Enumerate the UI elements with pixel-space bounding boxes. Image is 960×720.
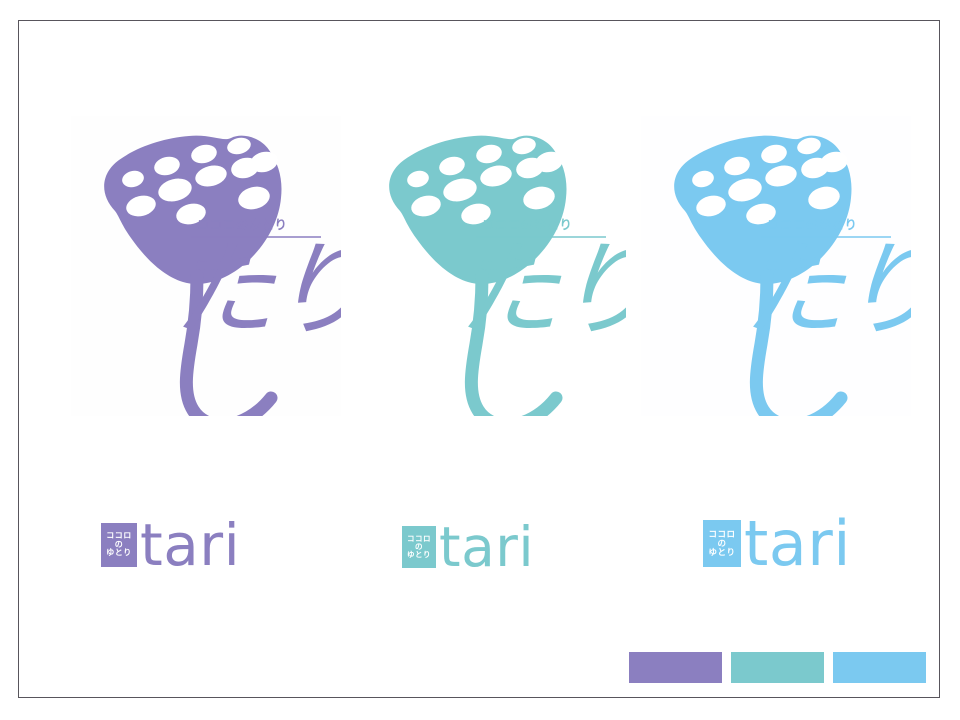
slide-canvas: ココロのゆとり たり: [18, 20, 940, 698]
wordmark-type: tari: [744, 507, 851, 580]
badge-line-3: ゆとり: [106, 549, 132, 557]
logo-calligraphy: たり: [456, 229, 626, 351]
swatch-purple[interactable]: [629, 652, 722, 683]
logo-calligraphy: たり: [171, 229, 341, 351]
badge-line-3: ゆとり: [407, 551, 431, 559]
wordmark-blue[interactable]: ココロ の ゆとり tari: [703, 507, 851, 580]
lotus-logo-icon: ココロのゆとり たり: [356, 116, 626, 416]
logo-variant-teal[interactable]: ココロのゆとり たり: [356, 116, 626, 416]
wordmark-badge: ココロ の ゆとり: [703, 520, 741, 567]
lotus-logo-icon: ココロのゆとり たり: [641, 116, 911, 416]
swatch-teal[interactable]: [731, 652, 824, 683]
lotus-logo-icon: ココロのゆとり たり: [71, 116, 341, 416]
wordmark-badge: ココロ の ゆとり: [402, 526, 436, 568]
logo-variants-row: ココロのゆとり たり: [19, 21, 939, 321]
logo-calligraphy: たり: [741, 229, 911, 351]
swatch-blue[interactable]: [833, 652, 926, 683]
logo-variant-purple[interactable]: ココロのゆとり たり: [71, 116, 341, 416]
wordmark-teal[interactable]: ココロ の ゆとり tari: [402, 515, 534, 579]
wordmark-type: tari: [439, 515, 534, 579]
wordmark-type: tari: [140, 511, 240, 579]
color-palette: [629, 652, 926, 683]
badge-line-3: ゆとり: [708, 548, 735, 557]
logo-variant-blue[interactable]: ココロのゆとり たり: [641, 116, 911, 416]
wordmark-badge: ココロ の ゆとり: [101, 523, 137, 567]
wordmark-purple[interactable]: ココロ の ゆとり tari: [101, 511, 240, 579]
